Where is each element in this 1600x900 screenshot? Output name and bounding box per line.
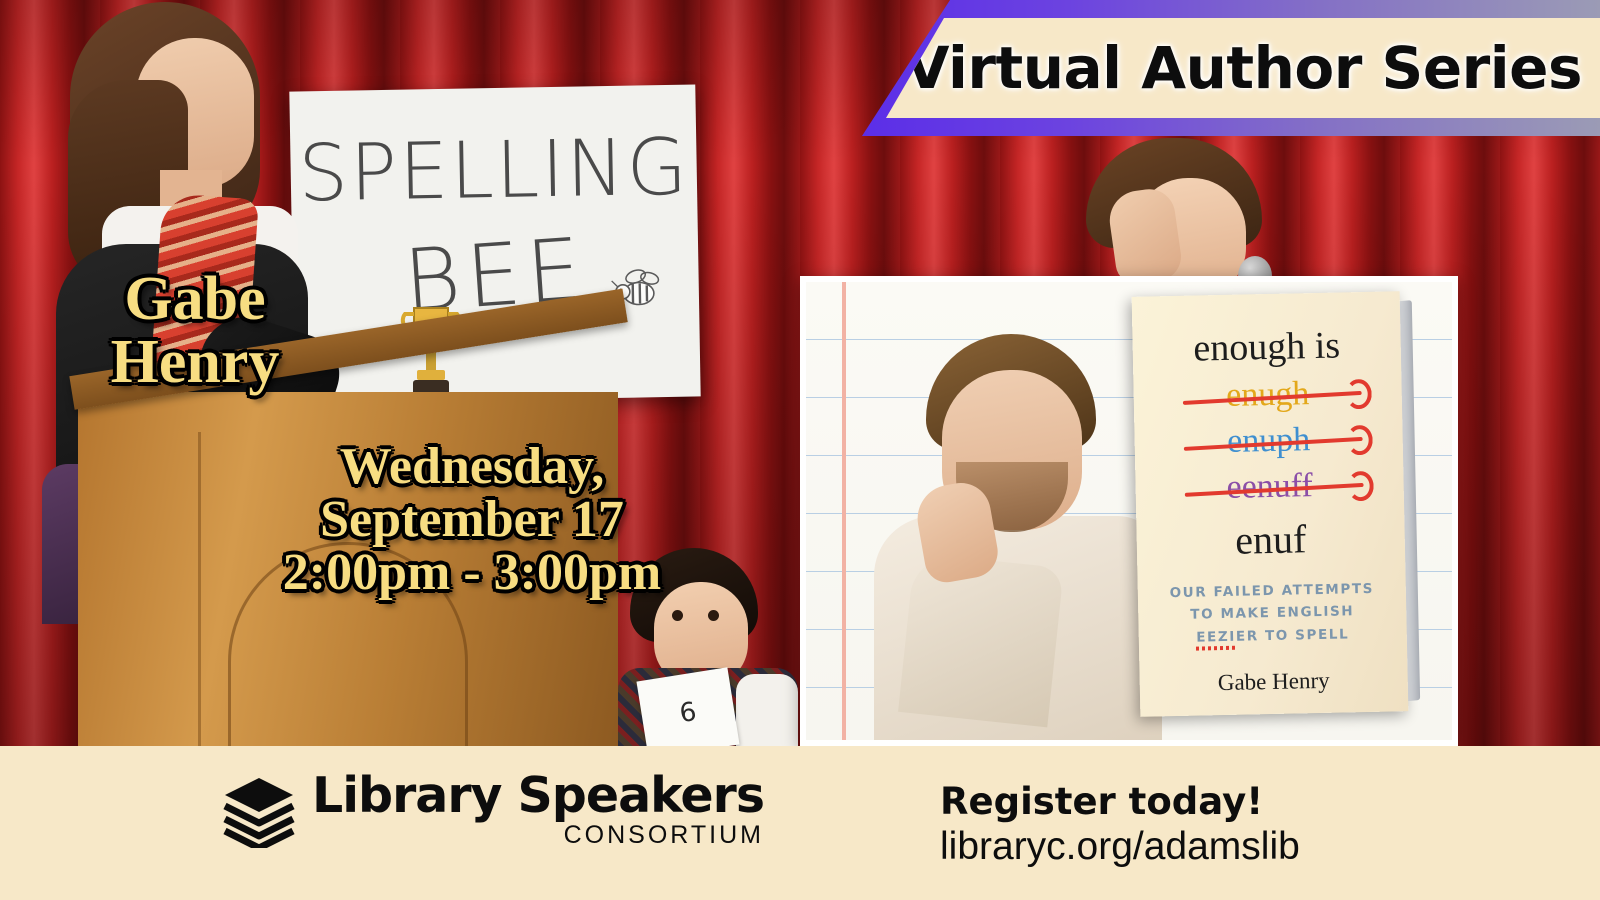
contestant-number-card: 6 [636, 667, 739, 746]
event-datetime: Wednesday, September 17 2:00pm - 3:00pm [232, 440, 712, 599]
child-sleeve [736, 674, 798, 746]
stacked-books-icon [222, 774, 296, 848]
child-eye-left [672, 610, 683, 621]
lined-paper-background: enough is enugh enuph eenuff [806, 282, 1452, 740]
book-misspelling-3: eenuff [1151, 468, 1388, 507]
book-cover: enough is enugh enuph eenuff [1132, 291, 1409, 717]
logo-main-text: Library Speakers [312, 772, 764, 819]
event-date-line-1: Wednesday, [232, 440, 712, 493]
podium-seam [198, 432, 201, 746]
book-title-line-1: enough is [1148, 326, 1385, 369]
event-time: 2:00pm - 3:00pm [232, 546, 712, 599]
header-banner: Virtual Author Series [886, 18, 1600, 118]
strike-loop-3 [1347, 471, 1374, 502]
book-front-cover: enough is enugh enuph eenuff [1132, 291, 1409, 717]
library-speakers-logo: Library Speakers CONSORTIUM [222, 772, 764, 850]
logo-sub-text: CONSORTIUM [312, 821, 764, 850]
registration-info: Register today! libraryc.org/adamslib [940, 780, 1300, 869]
book-misspelling-2: enuph [1150, 422, 1387, 461]
book-subtitle-to-spell: TO SPELL [1259, 626, 1350, 644]
logo-wordmark: Library Speakers CONSORTIUM [312, 772, 764, 850]
strike-loop-1 [1345, 379, 1372, 410]
paper-margin-line [842, 282, 846, 740]
strike-loop-2 [1346, 425, 1373, 456]
book-title-line-2: enuf [1152, 518, 1389, 563]
footer-bar: Library Speakers CONSORTIUM Register tod… [0, 746, 1600, 900]
banner-title: Virtual Author Series [905, 34, 1600, 102]
author-first-name: Gabe [70, 268, 320, 331]
book-subtitle-eezier: EEZIER [1196, 628, 1259, 645]
book-subtitle: OUR FAILED ATTEMPTS TO MAKE ENGLISH EEZI… [1154, 578, 1391, 650]
event-poster: SPELLING BEE [0, 0, 1600, 900]
sign-line-1: SPELLING [290, 122, 698, 219]
author-arm [898, 553, 1064, 728]
author-book-panel: enough is enugh enuph eenuff [800, 276, 1458, 746]
author-portrait [864, 334, 1164, 740]
event-date-line-2: September 17 [232, 493, 712, 546]
book-author-name: Gabe Henry [1155, 666, 1391, 697]
register-url[interactable]: libraryc.org/adamslib [940, 825, 1300, 869]
child-eye-right [708, 610, 719, 621]
author-last-name: Henry [70, 331, 320, 394]
register-title: Register today! [940, 780, 1300, 823]
book-misspelling-1: enugh [1149, 376, 1386, 415]
author-name: Gabe Henry [70, 268, 320, 394]
